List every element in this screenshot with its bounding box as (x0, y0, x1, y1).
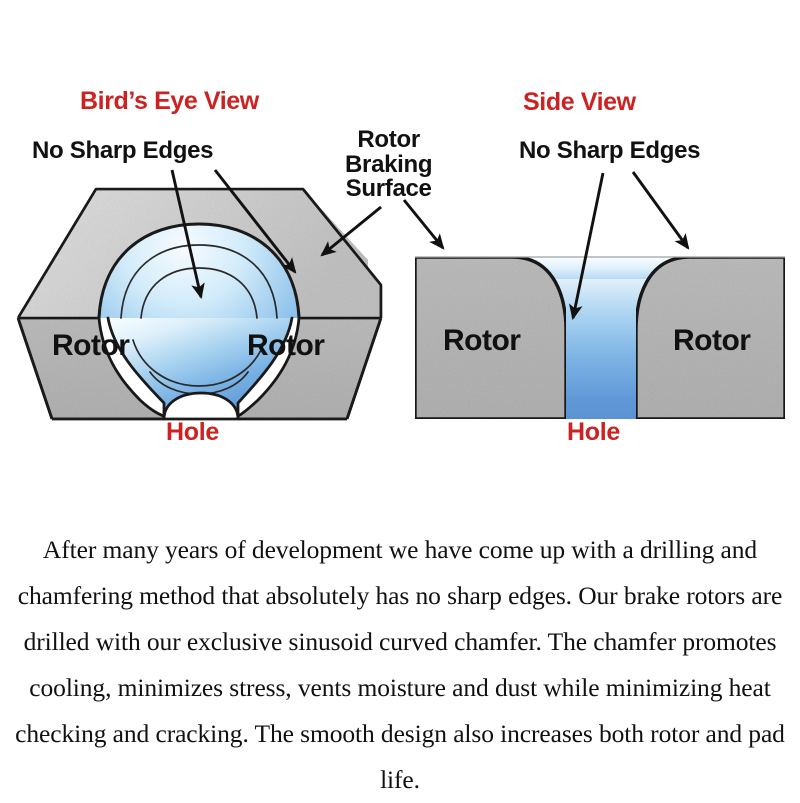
label-rotor-bird-left: Rotor (52, 331, 129, 362)
title-side-view: Side View (523, 90, 636, 116)
label-rotor-bird-right: Rotor (247, 331, 324, 362)
label-rotor-side-right: Rotor (673, 326, 750, 357)
arrow-no-sharp-edges-right-2 (633, 172, 688, 248)
birds-eye-view-group (18, 170, 381, 419)
label-no-sharp-edges-right: No Sharp Edges (519, 139, 700, 164)
rotor-chamfer-illustration (0, 0, 800, 480)
diagram-area: Bird’s Eye View Side View No Sharp Edges… (0, 0, 800, 480)
label-hole-right: Hole (567, 420, 620, 446)
label-hole-left: Hole (166, 420, 219, 446)
title-birds-eye-view: Bird’s Eye View (80, 89, 259, 115)
label-no-sharp-edges-left: No Sharp Edges (32, 139, 213, 164)
arrow-rotor-braking-surface-right (404, 200, 443, 248)
label-rotor-side-left: Rotor (443, 326, 520, 357)
side-view-group (404, 172, 785, 419)
label-rotor-braking-surface: Rotor Braking Surface (345, 128, 432, 202)
description-paragraph: After many years of development we have … (0, 527, 800, 803)
diagram-page: Bird’s Eye View Side View No Sharp Edges… (0, 0, 800, 800)
